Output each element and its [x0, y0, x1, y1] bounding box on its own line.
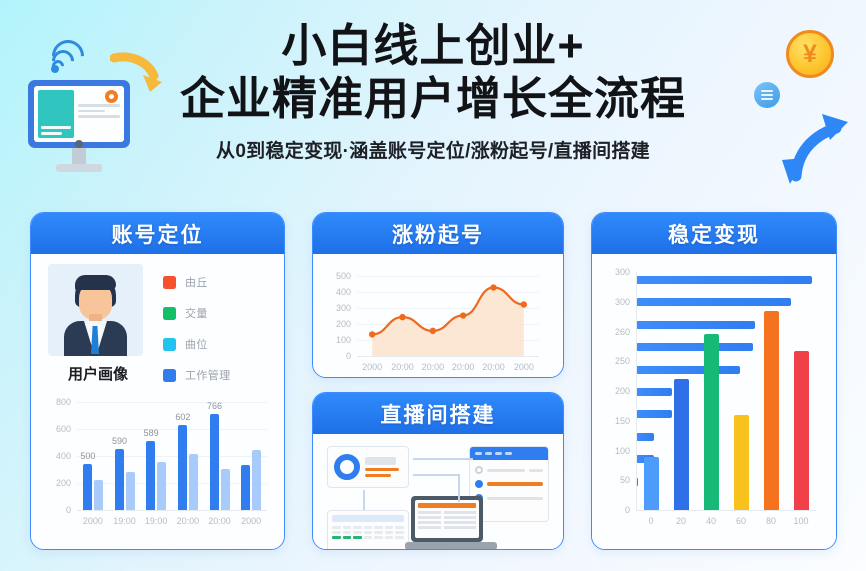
bar	[126, 472, 135, 510]
gridline	[77, 429, 267, 430]
bar	[636, 410, 672, 418]
page-header: 小白线上创业+ 企业精准用户增长全流程 从0到稳定变现·涵盖账号定位/涨粉起号/…	[0, 0, 866, 200]
y-axis-tick: 50	[620, 475, 630, 485]
bar	[636, 321, 755, 329]
page-subtitle: 从0到稳定变现·涵盖账号定位/涨粉起号/直播间搭建	[133, 136, 733, 163]
legend-item[interactable]: 曲位	[163, 336, 231, 352]
y-axis	[636, 272, 637, 510]
desktop-monitor-icon	[28, 80, 138, 180]
bar	[157, 462, 166, 510]
legend-label: 交量	[185, 305, 208, 321]
card-monetize-body: 300300260250200150100500020406080100	[592, 254, 836, 549]
bar	[636, 433, 654, 441]
gridline	[77, 402, 267, 403]
x-axis-tick: 2000	[83, 516, 103, 526]
y-axis-tick: 100	[615, 446, 630, 456]
laptop-icon	[405, 496, 497, 550]
title-line-2: 企业精准用户增长全流程	[133, 75, 733, 124]
y-axis-tick: 0	[625, 505, 630, 515]
bar	[636, 366, 740, 374]
bar	[221, 469, 230, 510]
x-axis-tick: 20:00	[452, 362, 475, 372]
x-axis-tick: 100	[793, 516, 808, 526]
connector-line	[363, 490, 365, 510]
y-axis-tick: 300	[615, 267, 630, 277]
y-axis-tick: 260	[615, 327, 630, 337]
card-monetization[interactable]: 稳定变现 30030026025020015010050002040608010…	[591, 212, 837, 550]
donut-chart-icon	[334, 454, 360, 480]
x-axis-tick: 40	[706, 516, 716, 526]
y-axis-tick: 800	[56, 397, 71, 407]
bar	[178, 425, 187, 510]
x-axis-tick: 20:00	[422, 362, 445, 372]
title-line-1: 小白线上创业+	[133, 22, 733, 71]
double-curved-arrow-icon	[782, 108, 852, 188]
bar	[764, 311, 779, 510]
y-axis-tick: 400	[336, 287, 351, 297]
y-axis-tick: 200	[615, 386, 630, 396]
legend-item[interactable]: 交量	[163, 305, 231, 321]
bar	[241, 465, 250, 510]
y-axis-tick: 200	[56, 478, 71, 488]
y-axis-tick: 100	[336, 335, 351, 345]
legend-color-swatch	[163, 276, 176, 289]
y-axis-tick: 400	[56, 451, 71, 461]
legend-item[interactable]: 由丘	[163, 274, 231, 290]
menu-badge-icon	[754, 82, 780, 108]
bar-value-label: 766	[207, 401, 222, 411]
connector-line	[413, 458, 473, 460]
area-series	[357, 276, 539, 356]
legend-label: 工作管理	[185, 367, 231, 383]
bar-value-label: 500	[80, 451, 95, 461]
bar-value-label: 602	[175, 412, 190, 422]
bar-value-label: 590	[112, 436, 127, 446]
x-axis-tick: 20	[676, 516, 686, 526]
x-axis-tick: 20:00	[482, 362, 505, 372]
x-axis-tick: 2000	[514, 362, 534, 372]
card-monetize-header: 稳定变现	[592, 213, 836, 254]
card-account-title: 账号定位	[112, 219, 204, 249]
bar	[189, 454, 198, 510]
legend-label: 曲位	[185, 336, 208, 352]
legend-item[interactable]: 工作管理	[163, 367, 231, 383]
fans-line-chart: 0100200300400500200020:0020:0020:0020:00…	[357, 276, 539, 356]
x-axis-tick: 20:00	[391, 362, 414, 372]
x-axis-tick: 20:00	[177, 516, 200, 526]
bar	[636, 388, 672, 396]
card-live-body	[313, 434, 563, 549]
x-axis	[77, 510, 267, 511]
card-livestream-setup[interactable]: 直播间搭建	[312, 392, 564, 550]
card-live-title: 直播间搭建	[381, 399, 496, 429]
gridline	[77, 483, 267, 484]
y-axis-tick: 500	[336, 271, 351, 281]
y-axis-tick: 200	[336, 319, 351, 329]
bar	[636, 298, 791, 306]
monetize-mixed-chart: 300300260250200150100500020406080100	[636, 272, 816, 510]
bar	[704, 334, 719, 510]
bar	[210, 414, 219, 510]
bar	[636, 343, 753, 351]
x-axis	[636, 510, 816, 511]
card-account-body: 用户画像 由丘 交量 曲位 工作管理 020040060080020005001…	[31, 254, 284, 549]
bar	[252, 450, 261, 510]
bar	[636, 276, 812, 284]
card-account-header: 账号定位	[31, 213, 284, 254]
card-fans-title: 涨粉起号	[392, 219, 484, 249]
legend-label: 由丘	[185, 274, 208, 290]
x-axis-tick: 2000	[362, 362, 382, 372]
account-bar-chart: 0200400600800200050019:0059019:0058920:0…	[77, 402, 267, 510]
analytics-panel-icon	[327, 446, 409, 488]
y-axis-tick: 0	[346, 351, 351, 361]
card-fans-body: 0100200300400500200020:0020:0020:0020:00…	[313, 254, 563, 377]
connector-line	[413, 474, 459, 476]
x-axis-tick: 60	[736, 516, 746, 526]
y-axis-tick: 250	[615, 356, 630, 366]
persona-label: 用户画像	[48, 363, 148, 384]
y-axis-tick: 600	[56, 424, 71, 434]
x-axis-tick: 19:00	[145, 516, 168, 526]
title-block: 小白线上创业+ 企业精准用户增长全流程 从0到稳定变现·涵盖账号定位/涨粉起号/…	[133, 22, 733, 163]
avatar	[48, 264, 143, 356]
bar	[644, 457, 659, 510]
bar	[83, 464, 92, 510]
coin-symbol: ¥	[803, 40, 817, 69]
card-fan-growth[interactable]: 涨粉起号 0100200300400500200020:0020:0020:00…	[312, 212, 564, 378]
gridline	[77, 456, 267, 457]
legend-color-swatch	[163, 369, 176, 382]
x-axis-tick: 20:00	[208, 516, 231, 526]
legend: 由丘 交量 曲位 工作管理	[163, 274, 231, 398]
x-axis-tick: 0	[648, 516, 653, 526]
wifi-signal-icon	[50, 38, 90, 74]
x-axis	[357, 356, 539, 357]
calendar-panel-icon	[327, 510, 409, 550]
yen-coin-icon: ¥	[786, 30, 834, 78]
legend-color-swatch	[163, 307, 176, 320]
bar	[115, 449, 124, 510]
x-axis-tick: 19:00	[113, 516, 136, 526]
card-monetize-title: 稳定变现	[668, 219, 760, 249]
card-fans-header: 涨粉起号	[313, 213, 563, 254]
card-live-header: 直播间搭建	[313, 393, 563, 434]
x-axis-tick: 2000	[241, 516, 261, 526]
connector-line	[458, 474, 460, 502]
bar	[734, 415, 749, 510]
y-axis-tick: 0	[66, 505, 71, 515]
bar	[146, 441, 155, 510]
y-axis-tick: 300	[615, 297, 630, 307]
bar	[94, 480, 103, 510]
y-axis-tick: 150	[615, 416, 630, 426]
y-axis-tick: 300	[336, 303, 351, 313]
bar	[794, 351, 809, 510]
bar	[674, 379, 689, 510]
persona-block: 用户画像	[48, 264, 148, 384]
bar-value-label: 589	[144, 428, 159, 438]
legend-color-swatch	[163, 338, 176, 351]
x-axis-tick: 80	[766, 516, 776, 526]
card-account-positioning[interactable]: 账号定位 用户画像 由丘 交量 曲位 工作管	[30, 212, 285, 550]
